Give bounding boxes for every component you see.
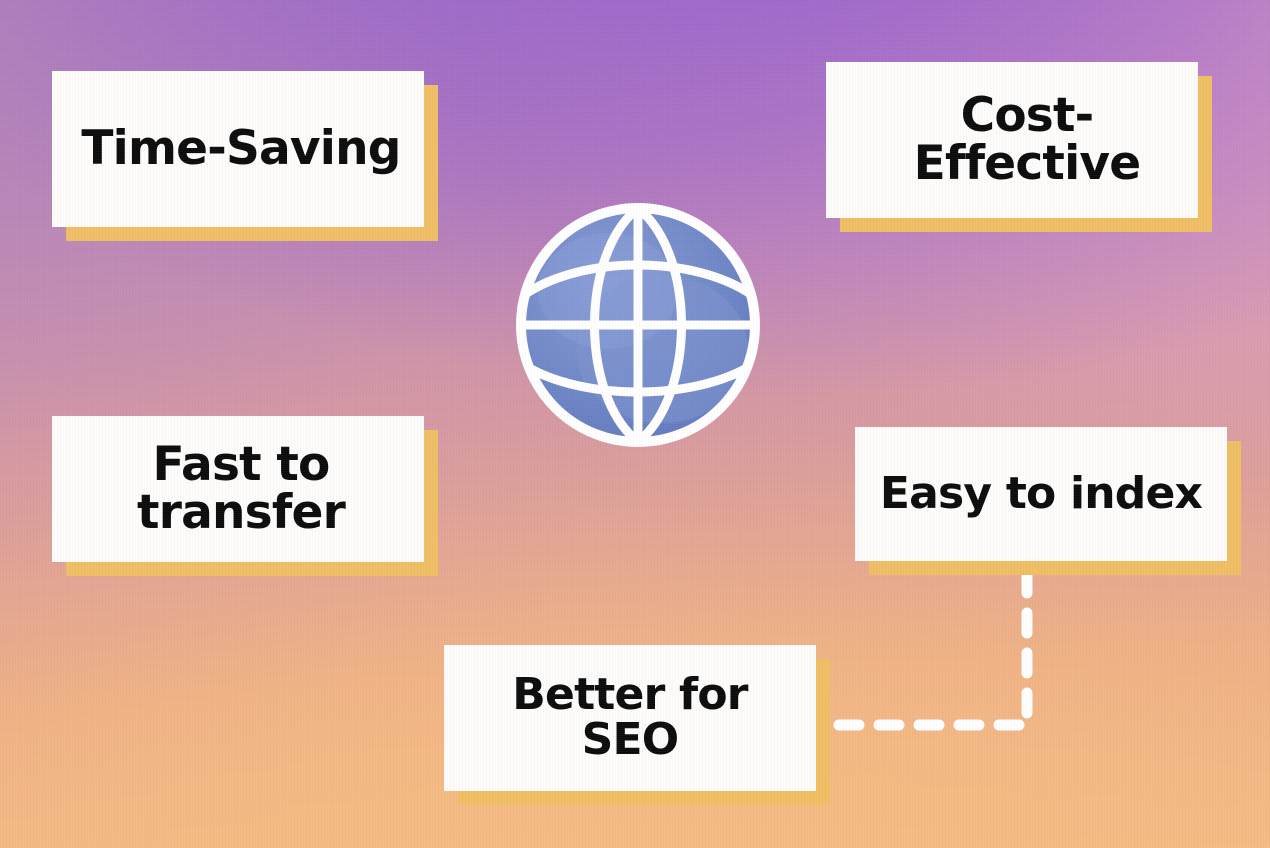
card-better-for-seo[interactable]: Better for SEO [444, 645, 816, 791]
card-cost-effective[interactable]: Cost- Effective [826, 62, 1198, 218]
card-time-saving[interactable]: Time-Saving [52, 71, 424, 227]
card-face: Fast to transfer [52, 416, 424, 562]
card-label: Easy to index [880, 472, 1202, 517]
card-face: Better for SEO [444, 645, 816, 791]
infographic-canvas: Time-Saving Cost- Effective Fast to tran… [0, 0, 1270, 848]
card-label: Fast to transfer [131, 441, 345, 537]
card-easy-to-index[interactable]: Easy to index [855, 427, 1227, 561]
card-face: Cost- Effective [826, 62, 1198, 218]
card-label: Better for SEO [512, 673, 747, 763]
card-label: Time-Saving [75, 125, 400, 173]
card-fast-to-transfer[interactable]: Fast to transfer [52, 416, 424, 562]
card-face: Easy to index [855, 427, 1227, 561]
card-face: Time-Saving [52, 71, 424, 227]
card-label: Cost- Effective [884, 92, 1141, 188]
globe-icon [512, 199, 764, 451]
dashed-elbow-connector [815, 565, 1060, 750]
